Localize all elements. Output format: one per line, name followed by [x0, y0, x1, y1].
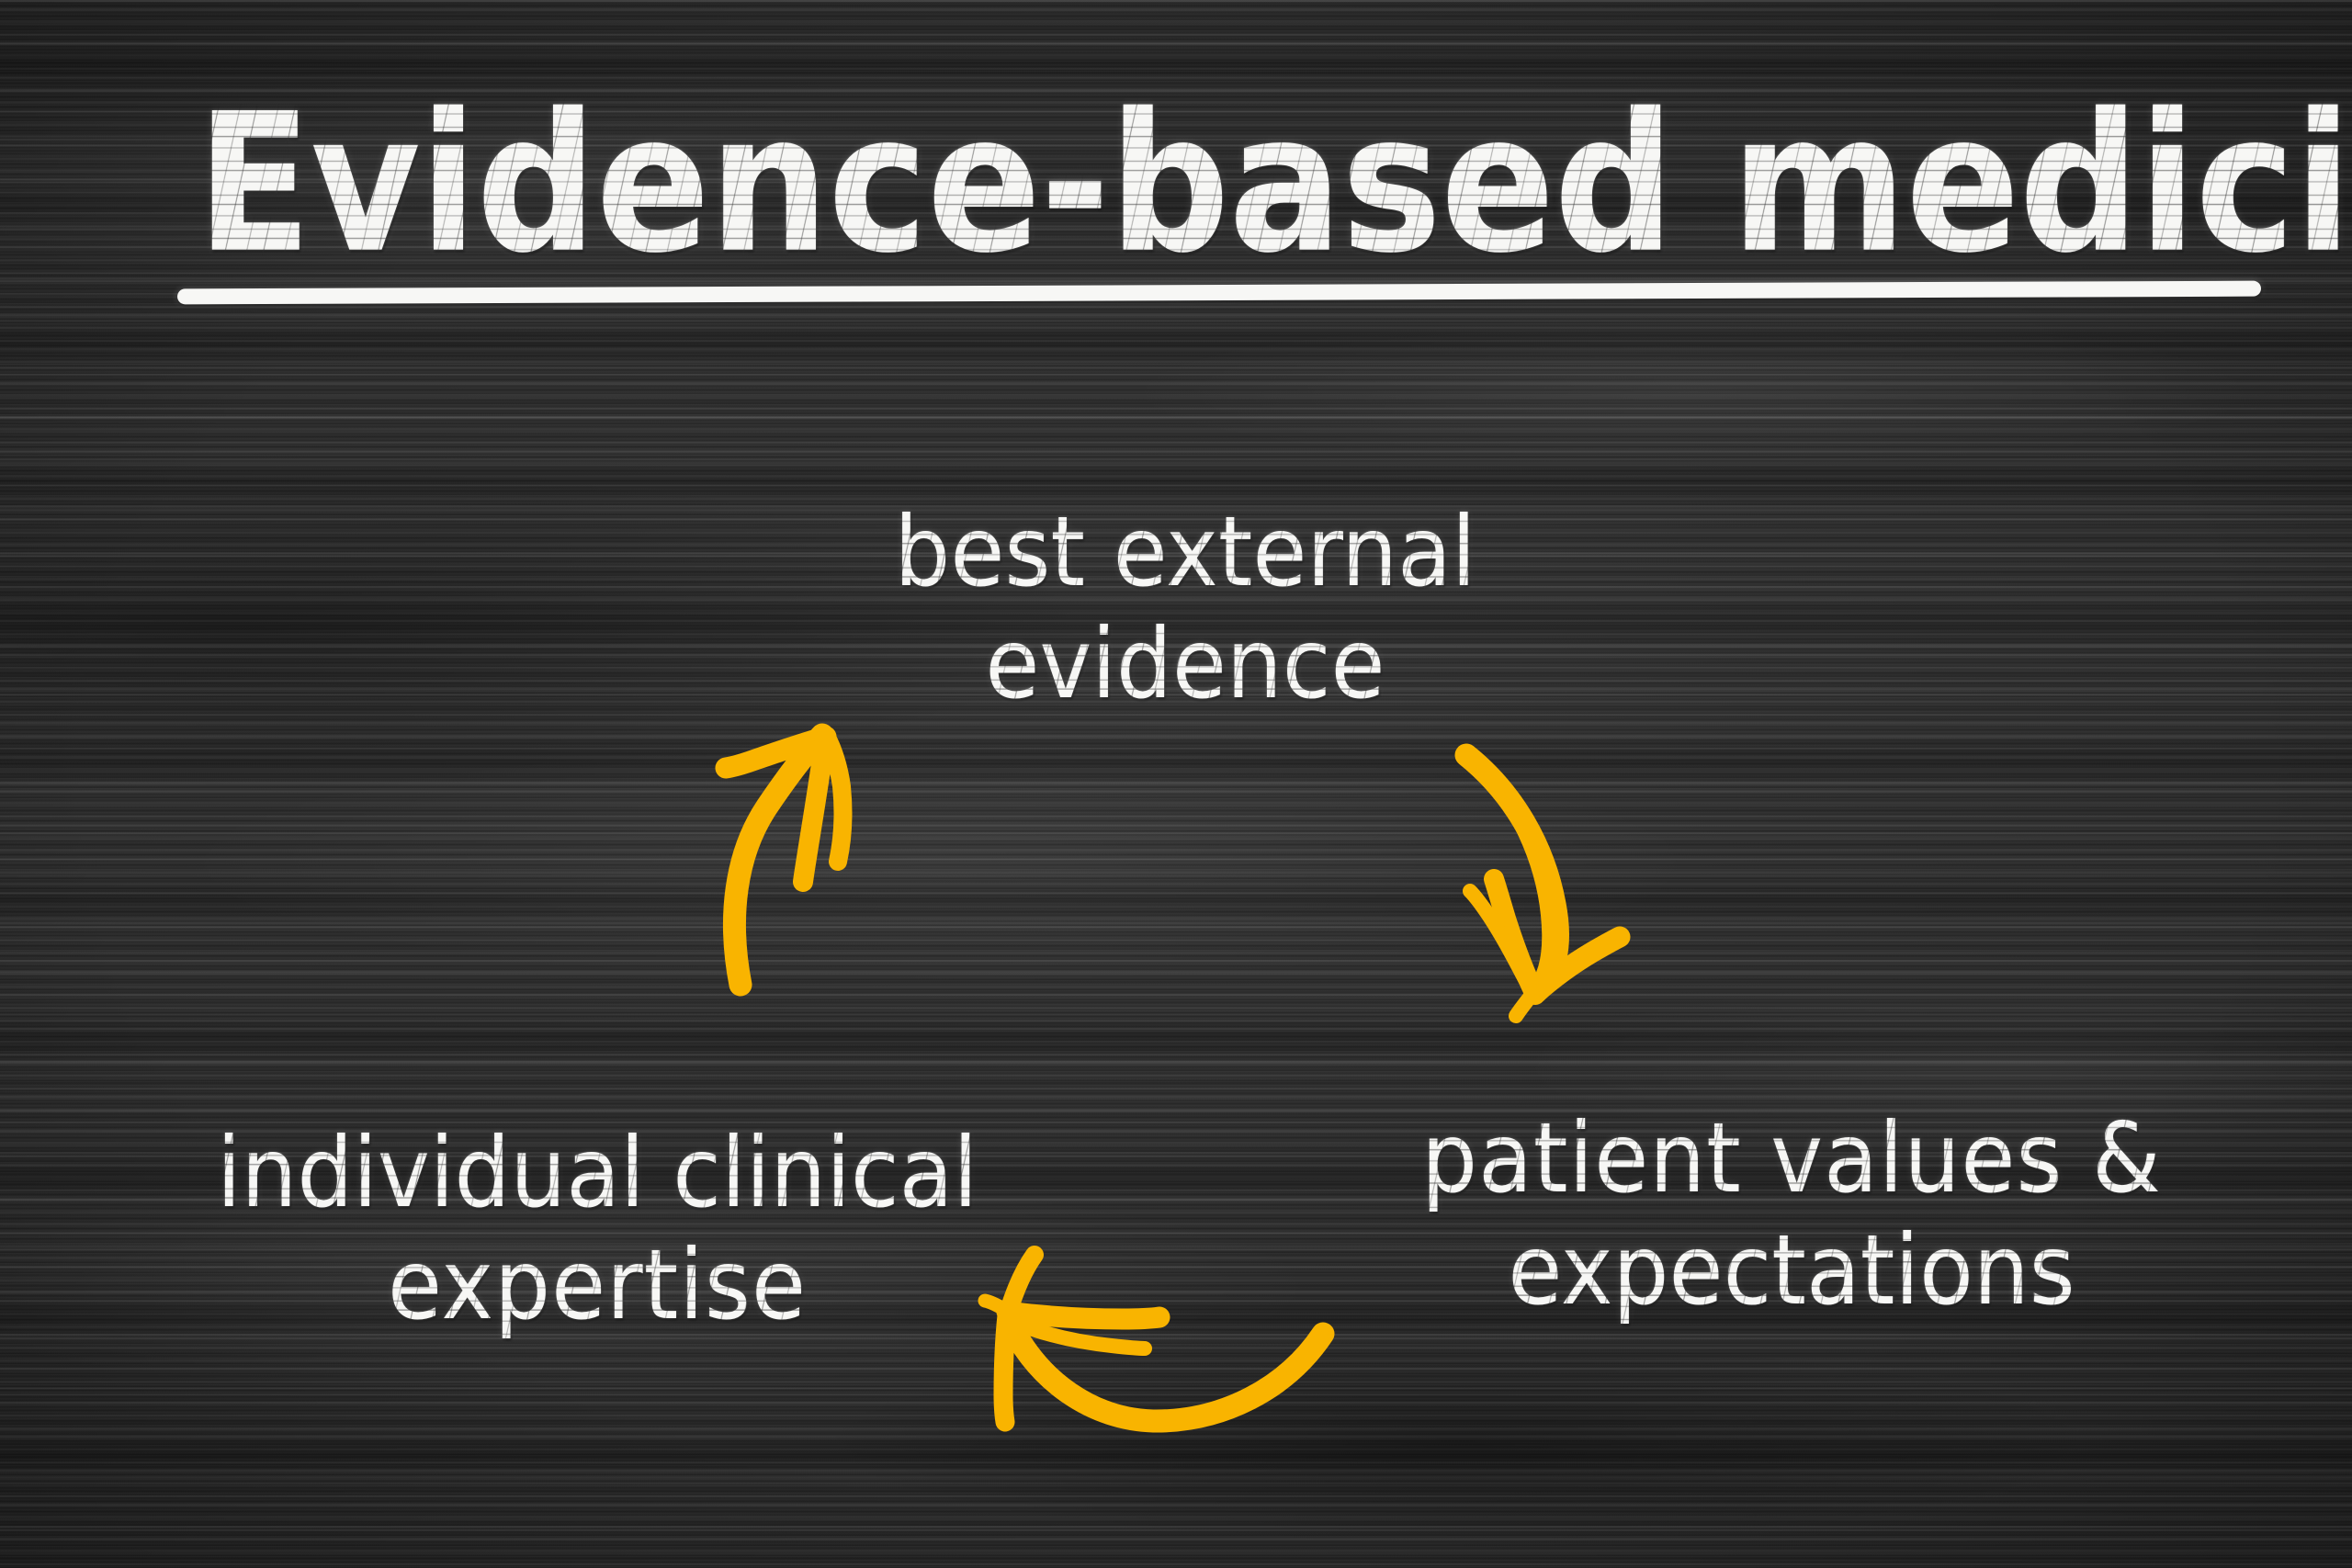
node-individual-clinical-expertise: individual clinical expertise [55, 1117, 1139, 1342]
page-title: Evidence-based medicine [197, 88, 2352, 279]
node-right-line-2: expectations [1249, 1214, 2334, 1326]
node-right-line-1: patient values & [1249, 1102, 2334, 1214]
arrow-left-up-icon [726, 735, 842, 985]
node-patient-values-expectations: patient values & expectations [1249, 1102, 2334, 1327]
node-best-external-evidence: best external evidence [698, 496, 1672, 721]
node-top-line-2: evidence [698, 608, 1672, 720]
arrow-right-down-icon [1466, 755, 1620, 1016]
chalkboard-poster: Evidence-based medicine best external ev… [0, 0, 2352, 1568]
node-left-line-1: individual clinical [55, 1117, 1139, 1229]
node-top-line-1: best external [698, 496, 1672, 608]
title-underline [177, 281, 2261, 305]
node-left-line-2: expertise [55, 1229, 1139, 1341]
